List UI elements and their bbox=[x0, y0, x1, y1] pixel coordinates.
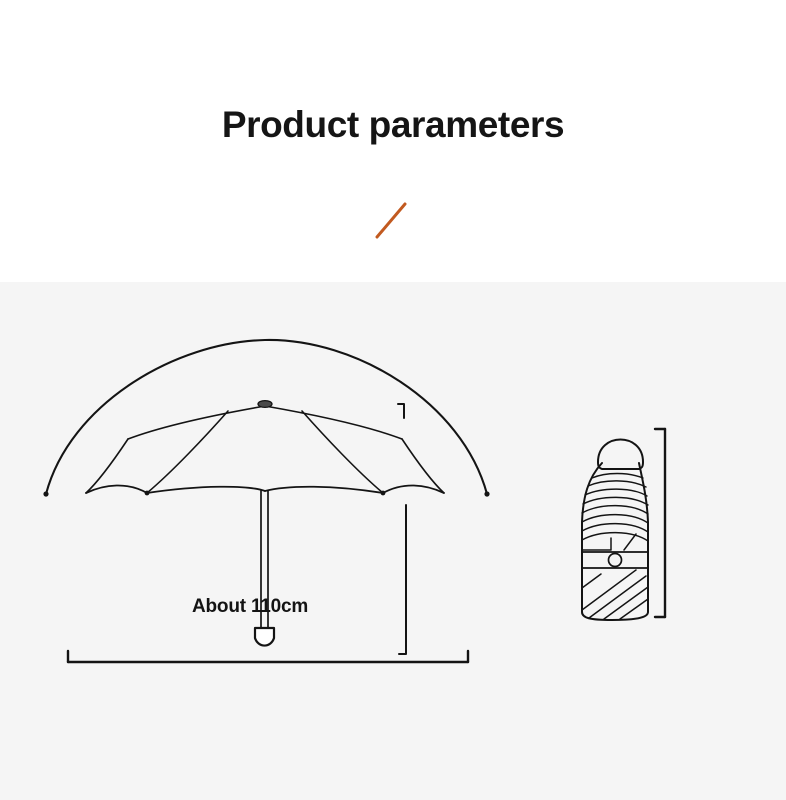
dimension-shaft-height bbox=[398, 404, 406, 654]
folded-umbrella-band bbox=[582, 552, 648, 568]
orange-slash-icon bbox=[372, 198, 412, 242]
canopy-outer-arc bbox=[43, 340, 489, 497]
product-parameters-page: Product parameters bbox=[0, 0, 786, 800]
folded-umbrella-body bbox=[582, 440, 648, 621]
header-band: Product parameters bbox=[0, 0, 786, 282]
umbrella-shaft bbox=[255, 491, 274, 646]
umbrella-dimension-diagram bbox=[0, 282, 786, 800]
canopy-finial bbox=[258, 401, 272, 408]
diagram-band: About 110cm About 54cm About 95cm About … bbox=[0, 282, 786, 800]
canopy-panels bbox=[86, 406, 444, 493]
label-canopy-arc: About 110cm bbox=[192, 596, 308, 618]
dimension-canopy-span bbox=[68, 651, 468, 662]
canopy-hem bbox=[86, 485, 444, 495]
page-title: Product parameters bbox=[0, 104, 786, 146]
dimension-folded-height bbox=[655, 429, 665, 617]
